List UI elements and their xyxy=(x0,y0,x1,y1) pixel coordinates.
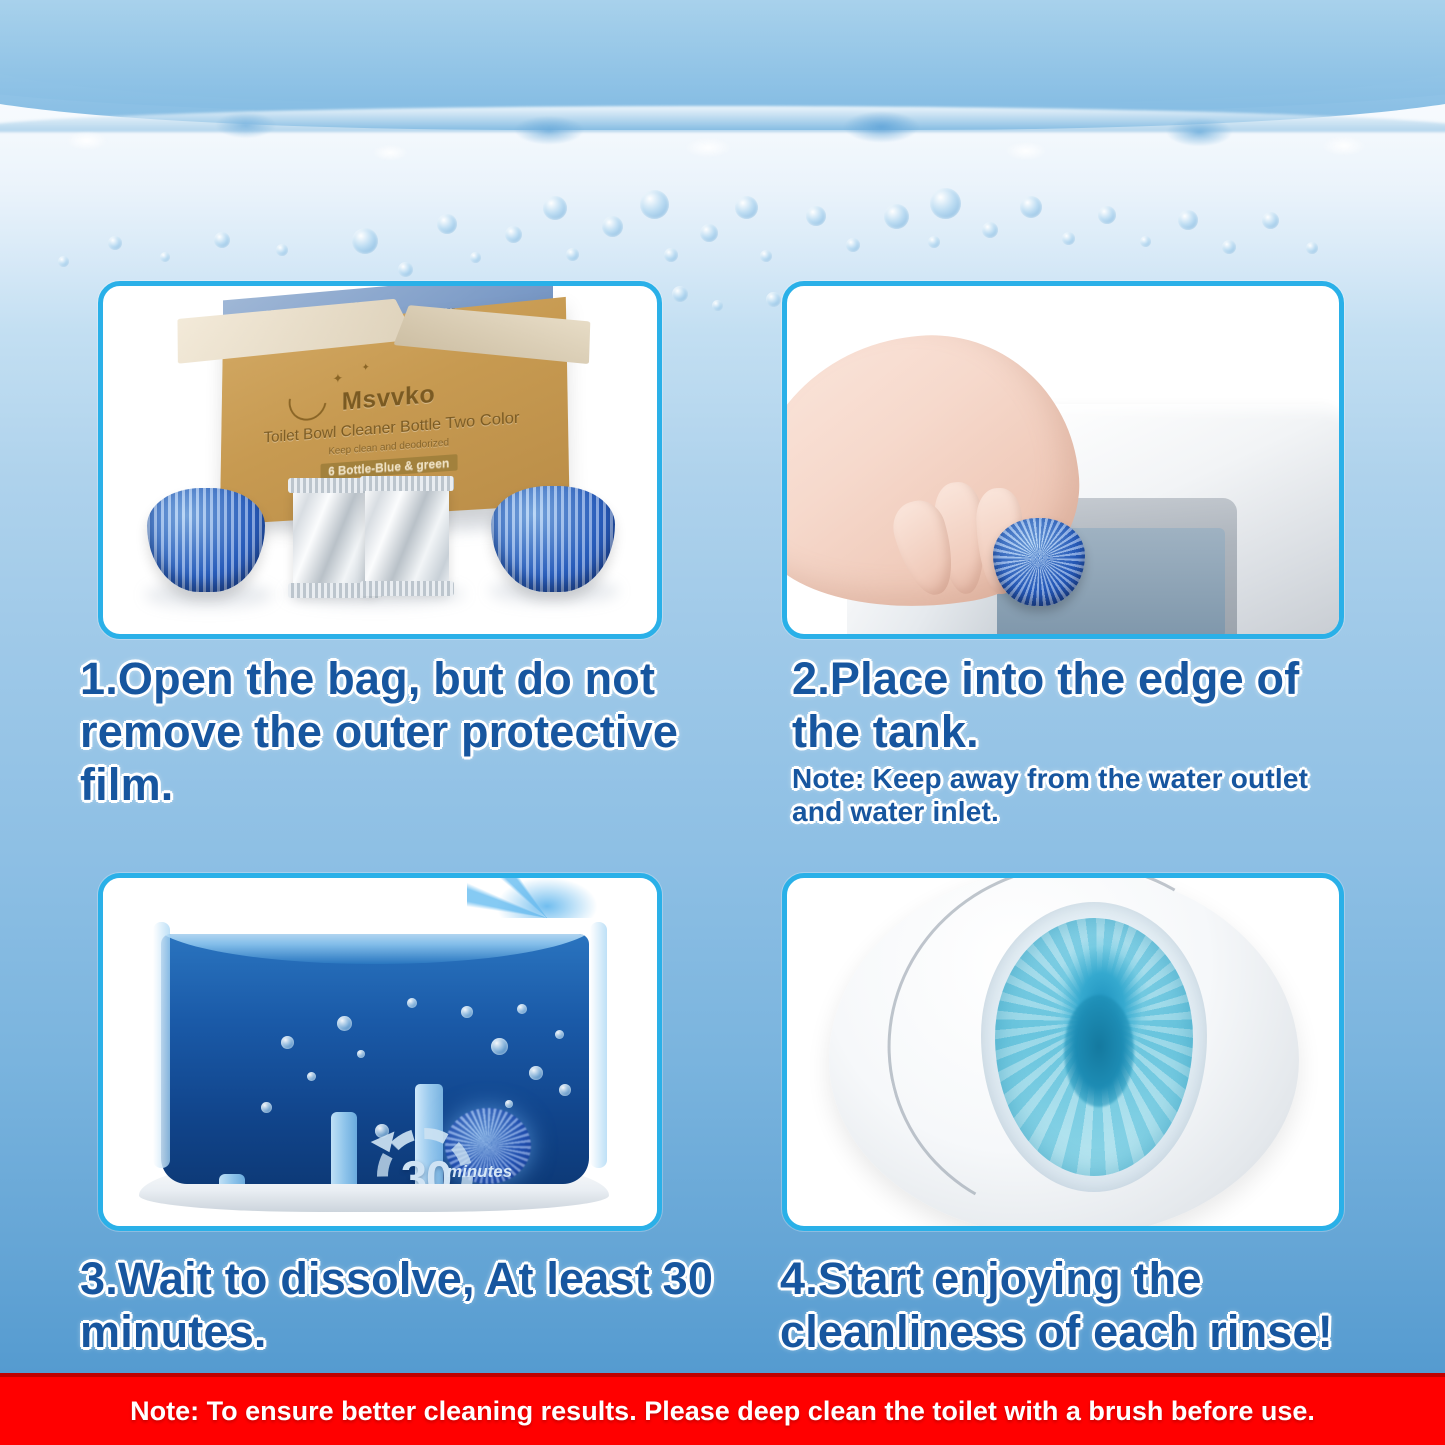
tank-glass-wall-left xyxy=(153,922,170,1168)
dissolve-timer-icon: 30 minutes xyxy=(373,1122,501,1184)
tank-cutaway-illustration: 30 minutes xyxy=(103,878,657,1226)
blue-tablet-left xyxy=(147,488,265,592)
water-surface-line xyxy=(161,934,589,964)
step-4-caption: 4.Start enjoying the cleanliness of each… xyxy=(780,1252,1380,1358)
foil-sachet-right xyxy=(365,482,449,590)
overflow-pipe-bend xyxy=(219,1174,245,1184)
step-2-caption-block: 2.Place into the edge of the tank. Note:… xyxy=(792,652,1352,828)
step-1-image-panel: ✦ ✦ Msvvko Toilet Bowl Cleaner Bottle Tw… xyxy=(98,281,662,639)
step-3-caption: 3.Wait to dissolve, At least 30 minutes. xyxy=(80,1252,720,1358)
step-3-image-panel: 30 minutes xyxy=(98,873,662,1231)
tank-glass-wall-right xyxy=(590,922,607,1168)
bottom-note-banner: Note: To ensure better cleaning results.… xyxy=(0,1373,1445,1445)
timer-unit: minutes xyxy=(447,1162,512,1182)
toilet-bowl xyxy=(829,873,1299,1231)
tank-water-body: 30 minutes xyxy=(161,934,589,1184)
step-1-caption: 1.Open the bag, but do not remove the ou… xyxy=(80,652,720,811)
step-2-caption: 2.Place into the edge of the tank. xyxy=(792,652,1352,758)
infographic-page: ✦ ✦ Msvvko Toilet Bowl Cleaner Bottle Tw… xyxy=(0,0,1445,1445)
water-foam xyxy=(0,108,1445,194)
sparkle-icon: ✦ xyxy=(362,362,370,374)
sparkle-icon: ✦ xyxy=(333,370,344,387)
overflow-pipe-vertical xyxy=(331,1112,357,1184)
blue-flush-water xyxy=(995,918,1193,1176)
blue-tablet-right xyxy=(491,486,615,592)
water-swirl xyxy=(1064,995,1134,1107)
step-2-note: Note: Keep away from the water outlet an… xyxy=(792,762,1352,828)
step-2-image-panel xyxy=(782,281,1344,639)
water-splash-crown xyxy=(467,873,627,918)
step-4-image-panel xyxy=(782,873,1344,1231)
banner-note-text: Note: To ensure better cleaning results.… xyxy=(130,1396,1315,1427)
